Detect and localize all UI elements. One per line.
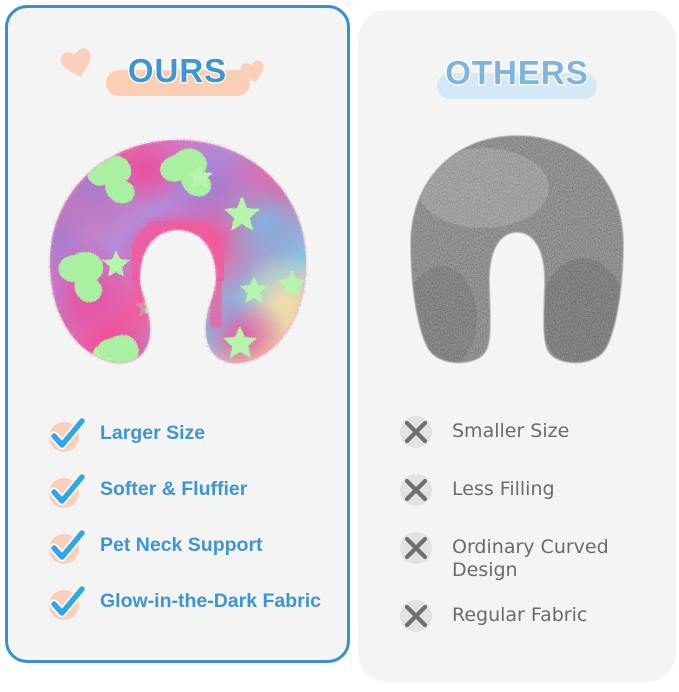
list-item: Smaller Size [398, 414, 668, 450]
list-item: Glow-in-the-Dark Fabric [46, 584, 336, 624]
feature-label: Softer & Fluffier [100, 472, 247, 501]
ours-title-group: OURS [8, 52, 347, 90]
heart-icon [240, 60, 266, 88]
ours-panel: OURS [5, 5, 350, 663]
list-item: Regular Fabric [398, 598, 668, 634]
feature-label: Smaller Size [452, 414, 569, 443]
others-title-group: OTHERS [358, 54, 676, 92]
check-icon [46, 584, 86, 624]
list-item: Less Filling [398, 472, 668, 508]
feature-label: Larger Size [100, 416, 205, 445]
others-panel: OTHERS [358, 10, 676, 682]
feature-label: Less Filling [452, 472, 555, 501]
check-icon [46, 472, 86, 512]
feature-label: Glow-in-the-Dark Fabric [100, 584, 321, 613]
page-title-ours: OURS [128, 52, 227, 90]
feature-label: Regular Fabric [452, 598, 587, 627]
rainbow-unicorn-neck-pillow-illustration [28, 126, 328, 376]
list-item: Ordinary Curved Design [398, 530, 668, 582]
x-icon [398, 472, 434, 508]
ours-header: OURS [8, 8, 347, 126]
x-icon [398, 598, 434, 634]
ours-feature-list: Larger Size Softer & Fluffier [46, 416, 336, 640]
check-icon [46, 528, 86, 568]
page-title-others: OTHERS [445, 54, 589, 92]
gray-sherpa-neck-pillow-illustration [397, 128, 637, 370]
others-feature-list: Smaller Size Less Filling [398, 414, 668, 650]
x-icon [398, 530, 434, 566]
others-product-image [358, 128, 676, 400]
feature-label: Pet Neck Support [100, 528, 263, 557]
others-header: OTHERS [358, 10, 676, 128]
list-item: Pet Neck Support [46, 528, 336, 568]
ours-product-image [8, 126, 347, 398]
list-item: Softer & Fluffier [46, 472, 336, 512]
x-icon [398, 414, 434, 450]
check-icon [46, 416, 86, 456]
heart-icon [60, 48, 94, 83]
list-item: Larger Size [46, 416, 336, 456]
feature-label: Ordinary Curved Design [452, 530, 668, 582]
comparison-infographic: OURS [0, 0, 679, 692]
